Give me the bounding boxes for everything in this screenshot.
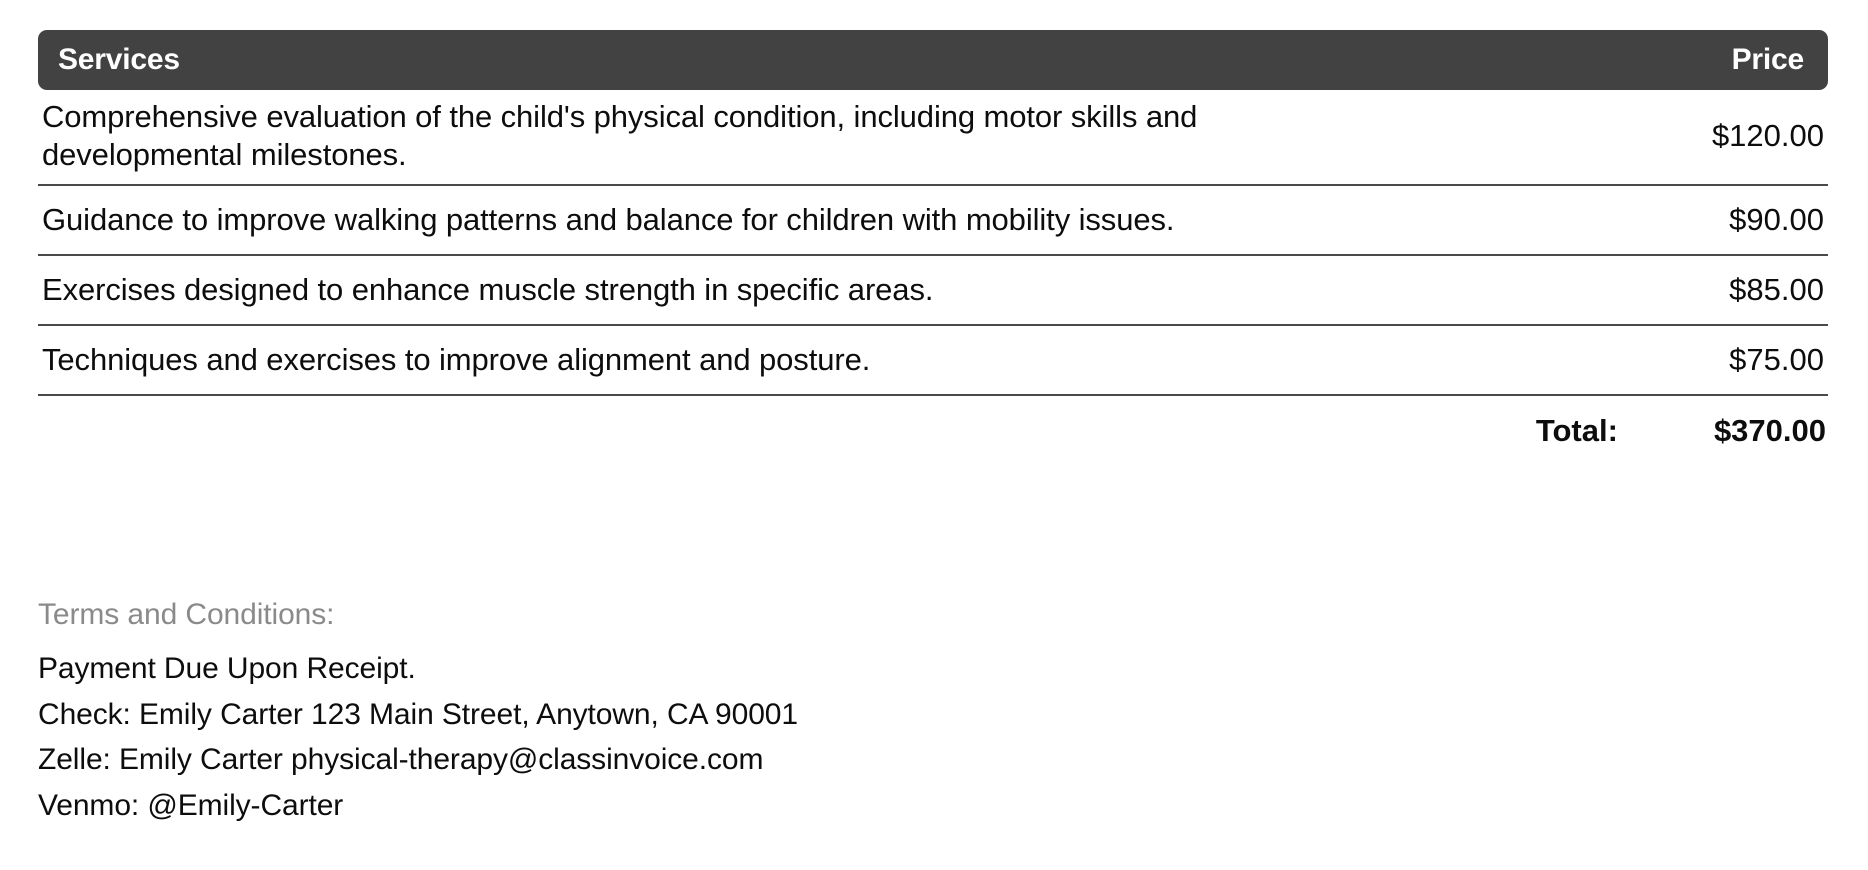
- service-price: $90.00: [1729, 202, 1826, 238]
- table-row: Comprehensive evaluation of the child's …: [38, 90, 1828, 186]
- terms-line-check: Check: Emily Carter 123 Main Street, Any…: [38, 692, 1338, 738]
- terms-and-conditions: Terms and Conditions: Payment Due Upon R…: [38, 598, 1338, 828]
- table-row: Exercises designed to enhance muscle str…: [38, 256, 1828, 326]
- terms-line-zelle: Zelle: Emily Carter physical-therapy@cla…: [38, 737, 1338, 783]
- table-header-row: Services Price: [38, 30, 1828, 90]
- column-header-price: Price: [1732, 43, 1804, 77]
- total-row: Total: $370.00: [38, 396, 1828, 466]
- invoice-page: Services Price Comprehensive evaluation …: [0, 0, 1868, 870]
- services-table: Services Price Comprehensive evaluation …: [38, 30, 1828, 466]
- service-description: Exercises designed to enhance muscle str…: [42, 271, 933, 309]
- table-row: Techniques and exercises to improve alig…: [38, 326, 1828, 396]
- service-price: $120.00: [1712, 118, 1826, 154]
- service-description: Techniques and exercises to improve alig…: [42, 341, 870, 379]
- service-price: $75.00: [1729, 342, 1826, 378]
- terms-line-venmo: Venmo: @Emily-Carter: [38, 783, 1338, 829]
- service-price: $85.00: [1729, 272, 1826, 308]
- service-description: Guidance to improve walking patterns and…: [42, 201, 1174, 239]
- terms-title: Terms and Conditions:: [38, 598, 1338, 632]
- table-row: Guidance to improve walking patterns and…: [38, 186, 1828, 256]
- service-description: Comprehensive evaluation of the child's …: [42, 98, 1332, 174]
- column-header-services: Services: [58, 43, 180, 77]
- terms-line-payment: Payment Due Upon Receipt.: [38, 646, 1338, 692]
- table-body: Comprehensive evaluation of the child's …: [38, 90, 1828, 396]
- total-label: Total:: [1536, 413, 1618, 449]
- total-value: $370.00: [1714, 413, 1826, 449]
